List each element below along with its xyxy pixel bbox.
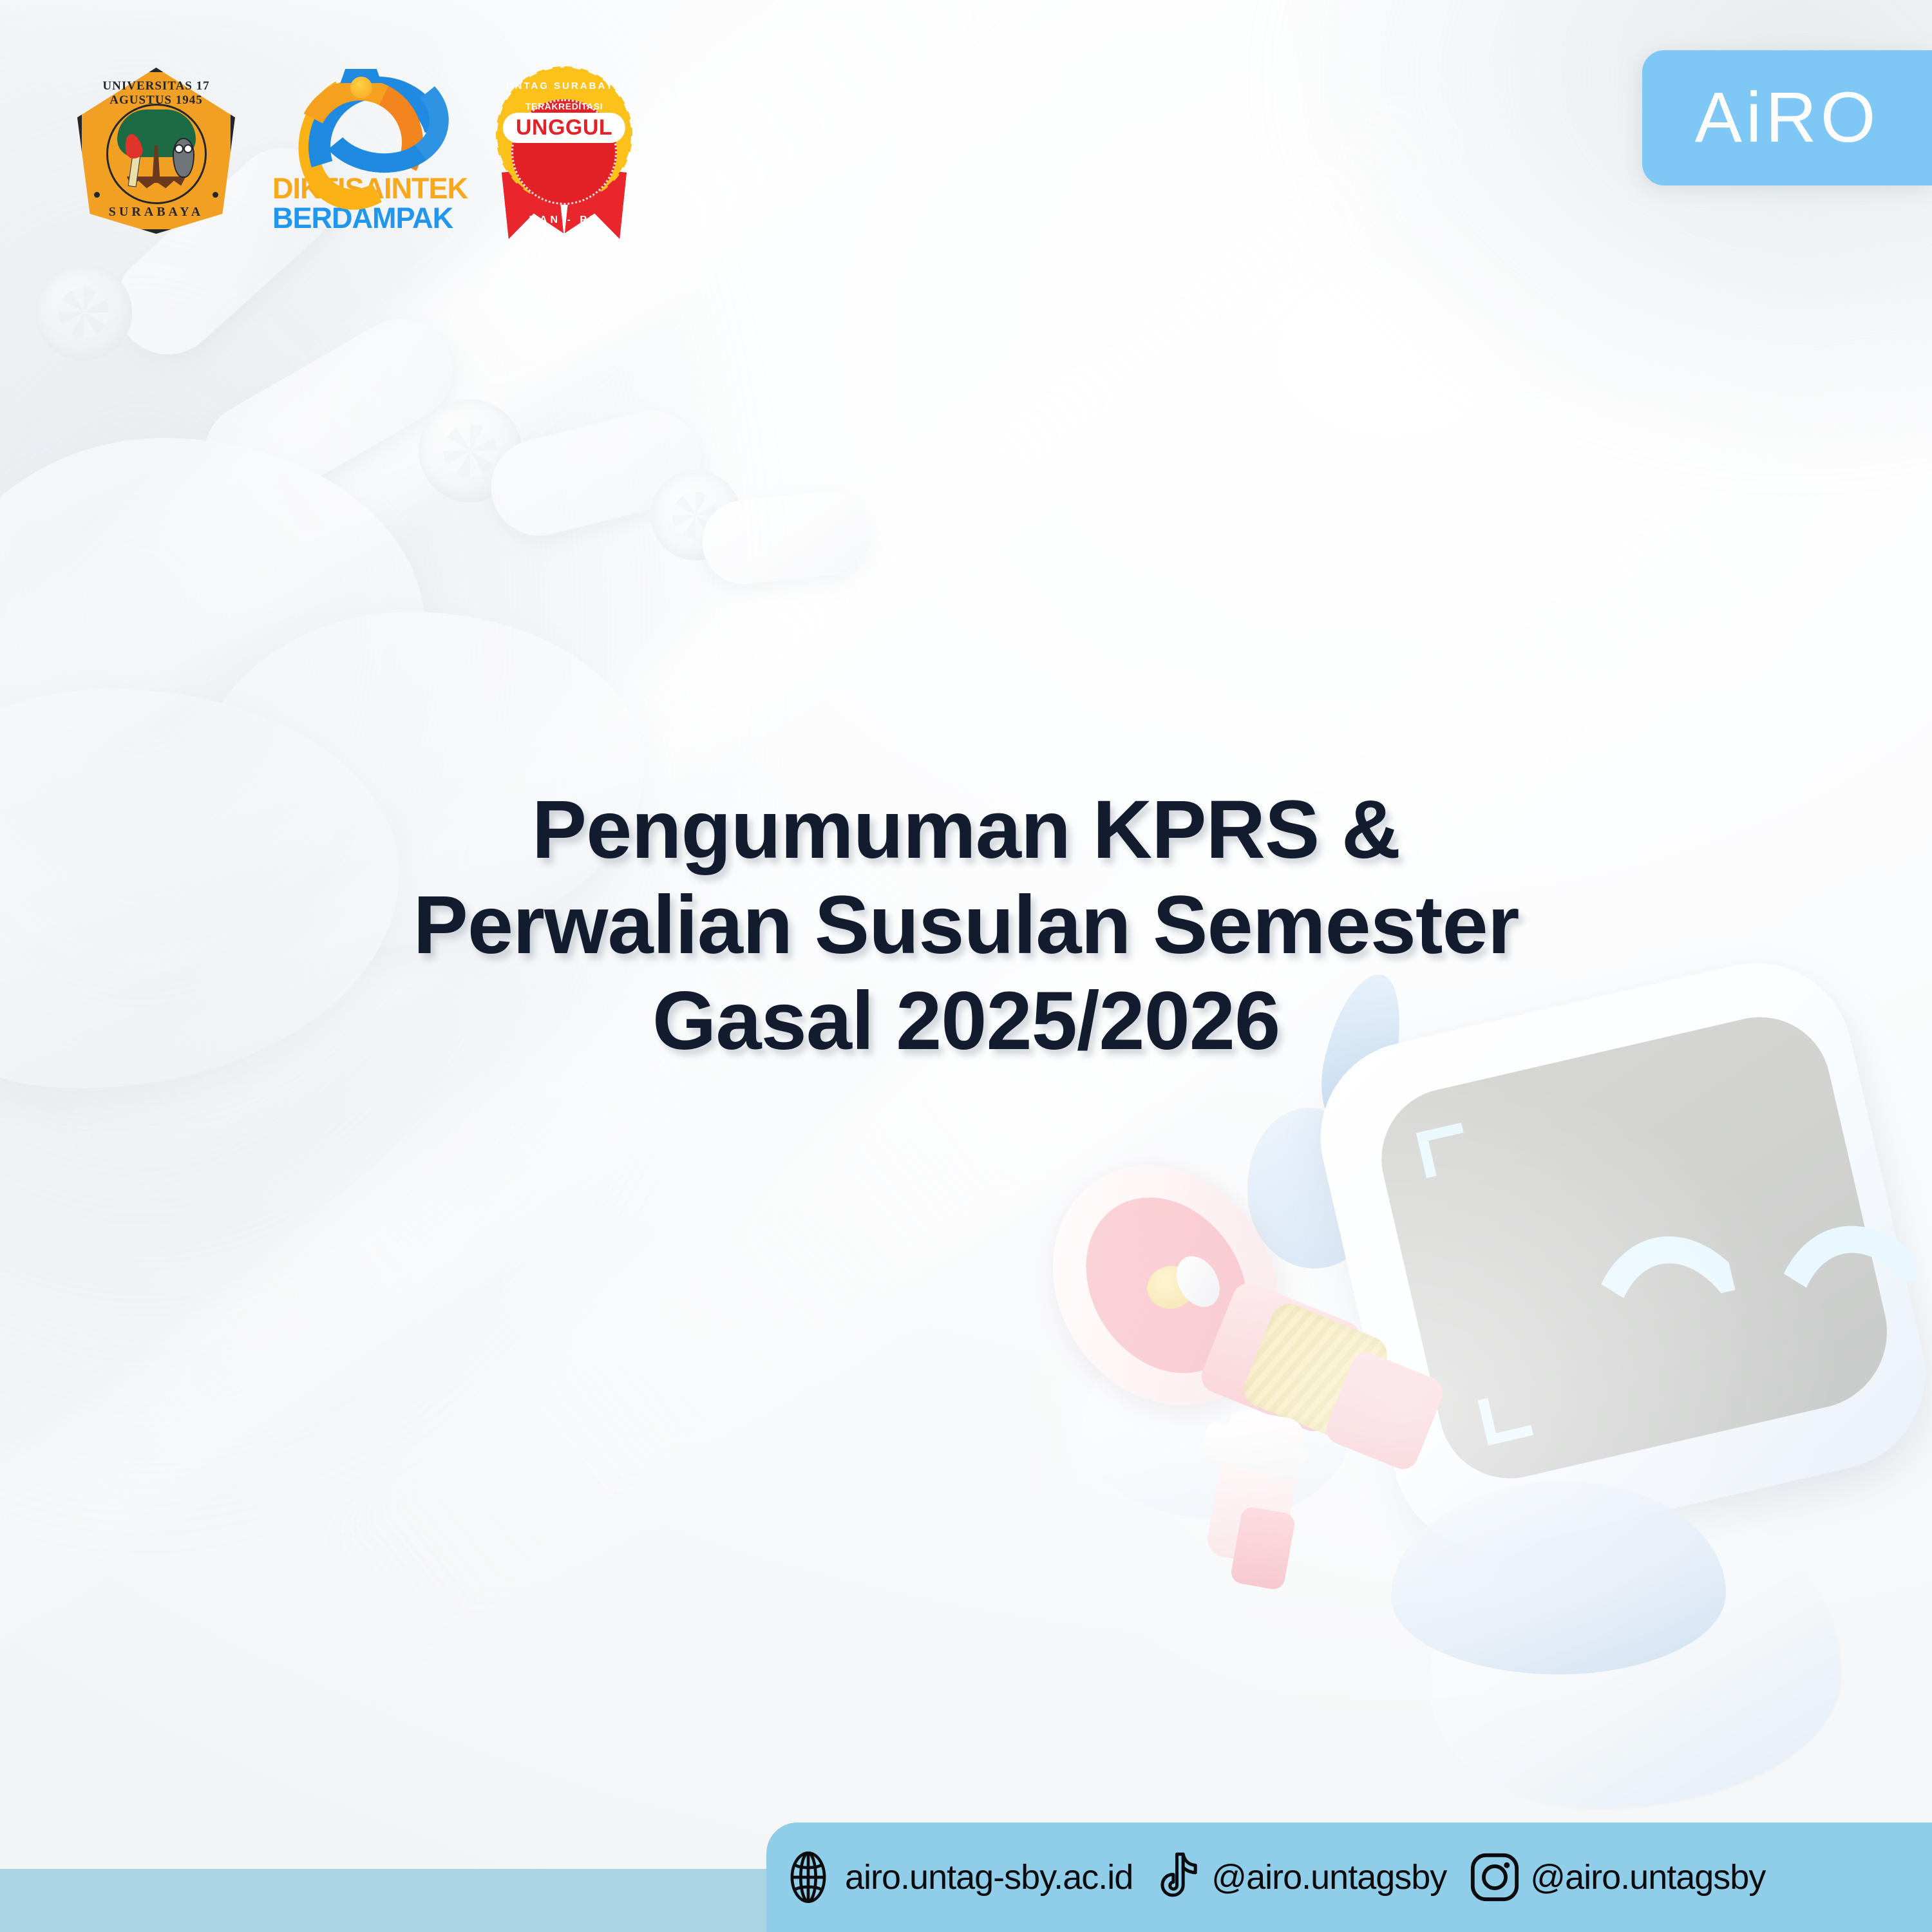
footer-instagram-item[interactable]: @airo.untagsby [1468, 1851, 1765, 1904]
badge-bottom-text: BAN - PT [487, 214, 641, 226]
badge-label: TERAKREDITASI [487, 101, 641, 111]
crest-emblem [106, 104, 207, 204]
footer-tiktok-label: @airo.untagsby [1211, 1857, 1446, 1897]
footer-instagram-label: @airo.untagsby [1530, 1857, 1765, 1897]
footer-tiktok-item[interactable]: @airo.untagsby [1155, 1850, 1446, 1905]
mascot-eye-right-icon [1744, 1206, 1932, 1382]
footer-website-label: airo.untag-sby.ac.id [845, 1857, 1133, 1897]
robot-knuckle [35, 264, 132, 361]
diktisaintek-head-dot [350, 77, 372, 99]
crest-dot [94, 192, 100, 198]
accreditation-badge: UNTAG SURABAYA TERAKREDITASI UNGGUL BAN … [487, 68, 641, 236]
megaphone-icon [1037, 1070, 1590, 1622]
badge-top-text: UNTAG SURABAYA [487, 80, 641, 91]
diktisaintek-mark-icon [297, 68, 426, 174]
diktisaintek-logo: DIKTISAINTEK BERDAMPAK [272, 68, 450, 238]
instagram-icon [1468, 1851, 1521, 1904]
owl-icon [173, 138, 194, 178]
badge-grade-pill: UNGGUL [503, 113, 625, 143]
page-title: Pengumuman KPRS & Perwalian Susulan Seme… [0, 782, 1932, 1069]
crest-dot [213, 192, 218, 198]
badge-grade-text: UNGGUL [516, 115, 612, 140]
institution-logo-row: UNIVERSITAS 17 AGUSTUS 1945 SURABAYA [77, 68, 641, 238]
untag-crest-logo: UNIVERSITAS 17 AGUSTUS 1945 SURABAYA [77, 68, 235, 234]
mascot-eye-left-icon [1562, 1217, 1777, 1392]
crest-bottom-text: SURABAYA [77, 205, 235, 220]
footer-website-item[interactable]: airo.untag-sby.ac.id [781, 1850, 1133, 1905]
airo-wordmark: AiRO [1695, 82, 1880, 153]
globe-icon [781, 1850, 836, 1905]
torch-handle-icon [128, 154, 140, 187]
poster-canvas: UNIVERSITAS 17 AGUSTUS 1945 SURABAYA [0, 0, 1932, 1932]
airo-brand-badge[interactable]: AiRO [1642, 50, 1932, 185]
footer-contact-panel: airo.untag-sby.ac.id @airo.untagsby @air… [766, 1823, 1932, 1932]
tiktok-icon [1155, 1850, 1202, 1905]
